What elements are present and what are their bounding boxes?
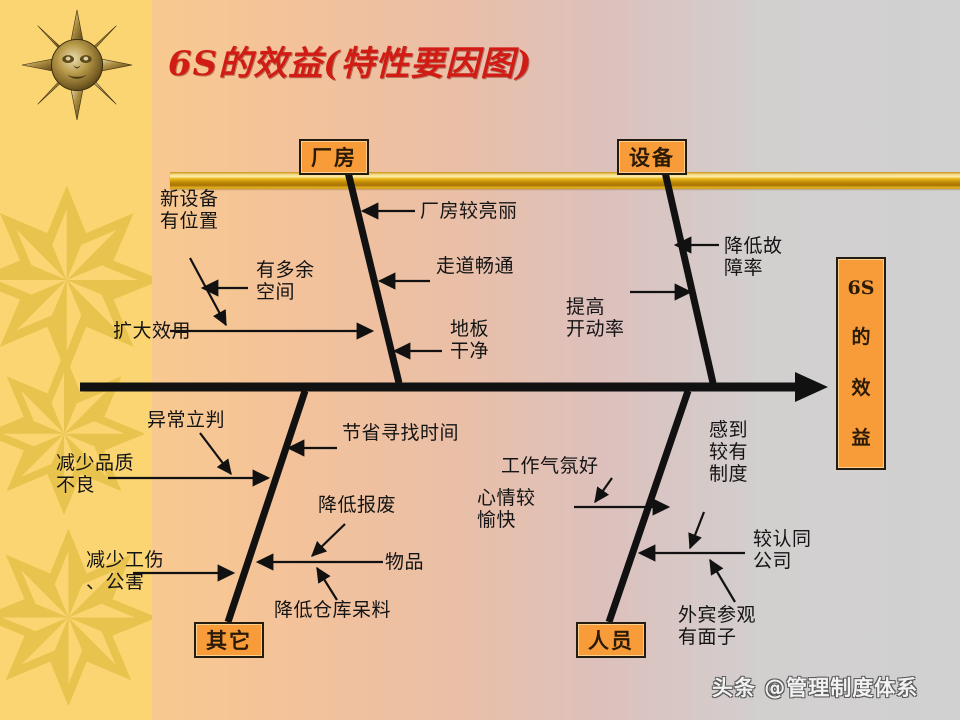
cause-label-reduce-fault: 降低故 障率 xyxy=(724,235,783,279)
cause-label-goods: 物品 xyxy=(385,551,424,573)
category-box-other[interactable]: 其它 xyxy=(194,622,264,658)
effect-char-0: 6S xyxy=(848,277,875,299)
bone-equipment xyxy=(665,172,713,383)
cause-label-less-scrap: 降低报废 xyxy=(318,494,396,516)
cause-label-raise-uptime: 提高 开动率 xyxy=(566,296,625,340)
cause-label-good-atmosphere: 工作气氛好 xyxy=(501,455,599,477)
cause-label-happier-mood: 心情较 愉快 xyxy=(477,487,536,531)
bone-other xyxy=(228,391,305,622)
cause-label-feel-systematic: 感到 较有 制度 xyxy=(709,419,748,485)
effect-char-2: 效 xyxy=(851,373,870,400)
arrow-abnormal-judge xyxy=(200,433,231,474)
category-box-people[interactable]: 人员 xyxy=(576,622,646,658)
arrow-less-scrap xyxy=(312,524,345,556)
cause-label-clean-floor: 地板 干净 xyxy=(450,318,489,362)
arrow-feel-systematic xyxy=(690,512,704,548)
cause-label-guest-face: 外宾参观 有面子 xyxy=(678,604,756,648)
cause-label-extra-space: 有多余 空间 xyxy=(256,259,315,303)
arrow-less-dead-stock xyxy=(317,568,337,600)
cause-label-save-search-time: 节省寻找时间 xyxy=(342,422,459,444)
effect-char-1: 的 xyxy=(851,322,870,349)
cause-label-clear-aisle: 走道畅通 xyxy=(436,255,514,277)
cause-label-less-dead-stock: 降低仓库呆料 xyxy=(274,599,391,621)
effect-box-6s-benefit[interactable]: 6S 的 效 益 xyxy=(836,257,886,470)
category-box-factory[interactable]: 厂房 xyxy=(299,139,369,175)
slide-canvas: ✵ ✵ ✵ xyxy=(0,0,960,720)
watermark-text: 头条 @管理制度体系 xyxy=(712,672,918,702)
arrow-guest-face xyxy=(710,560,735,602)
arrow-new-equip-space xyxy=(190,258,226,325)
spine-arrow xyxy=(80,372,828,402)
category-box-equipment[interactable]: 设备 xyxy=(617,139,687,175)
effect-char-3: 益 xyxy=(851,423,870,450)
cause-label-bright-plant: 厂房较亮丽 xyxy=(420,200,518,222)
arrow-good-atmosphere xyxy=(595,478,612,502)
cause-label-less-defect: 减少品质 不良 xyxy=(56,452,134,496)
cause-label-new-equip-space: 新设备 有位置 xyxy=(160,188,219,232)
bone-factory xyxy=(348,172,399,383)
cause-label-expand-use: 扩大效用 xyxy=(113,320,191,342)
cause-label-less-injury: 减少工伤 、公害 xyxy=(86,549,164,593)
cause-label-identify-company: 较认同 公司 xyxy=(753,528,812,572)
cause-label-abnormal-judge: 异常立判 xyxy=(147,409,225,431)
